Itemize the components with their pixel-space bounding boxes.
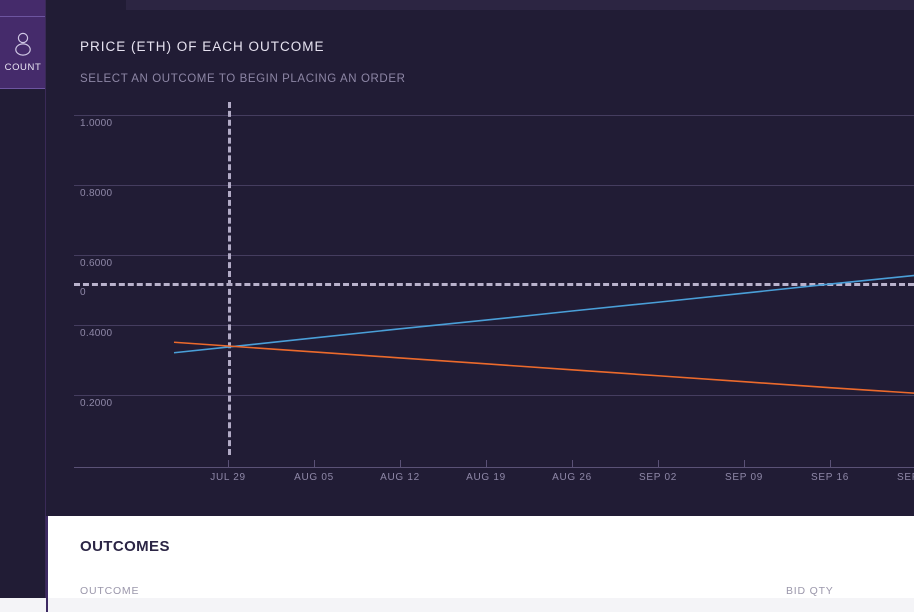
- x-axis-tick-label: SEP 23: [897, 472, 914, 483]
- top-strip: [46, 0, 914, 10]
- x-axis-tick-label: SEP 02: [639, 472, 677, 483]
- chart-series-line-lead: [174, 342, 228, 346]
- price-chart-plot-area[interactable]: 1.00000.80000.60000.40000.2000 0 JUL 29A…: [74, 102, 914, 462]
- app-root: COUNT PRICE (ETH) OF EACH OUTCOME SELECT…: [0, 0, 914, 612]
- x-axis-tick: [830, 460, 831, 467]
- x-axis-tick-label: AUG 26: [552, 472, 592, 483]
- sidebar: COUNT: [0, 0, 46, 612]
- top-strip-panel: [126, 0, 914, 10]
- x-axis-tick: [400, 460, 401, 467]
- column-header-bid-qty: BID QTY: [786, 585, 834, 597]
- x-axis-baseline: [74, 467, 914, 468]
- x-axis-tick-label: SEP 16: [811, 472, 849, 483]
- chart-subtitle: SELECT AN OUTCOME TO BEGIN PLACING AN OR…: [80, 73, 406, 85]
- x-axis-tick: [744, 460, 745, 467]
- x-axis-tick-label: SEP 09: [725, 472, 763, 483]
- x-axis-tick: [228, 460, 229, 467]
- outcomes-title: OUTCOMES: [80, 538, 170, 555]
- account-person-icon: [12, 32, 34, 56]
- chart-title: PRICE (ETH) OF EACH OUTCOME: [80, 39, 325, 54]
- chart-series-line-lead: [174, 347, 228, 353]
- x-axis-tick-label: AUG 19: [466, 472, 506, 483]
- outcomes-table-row[interactable]: [0, 598, 914, 612]
- x-axis-tick: [572, 460, 573, 467]
- sidebar-item-account-label: COUNT: [5, 62, 42, 73]
- chart-panel: PRICE (ETH) OF EACH OUTCOME SELECT AN OU…: [46, 10, 914, 515]
- column-header-outcome: OUTCOME: [80, 585, 139, 597]
- outcomes-row-left-rule: [46, 598, 48, 612]
- sidebar-bottom-divider: [0, 88, 46, 89]
- chart-series-line: [228, 275, 914, 347]
- x-axis-tick: [486, 460, 487, 467]
- x-axis-tick: [314, 460, 315, 467]
- sidebar-item-account[interactable]: COUNT: [0, 17, 46, 88]
- x-axis-tick-label: JUL 29: [210, 472, 246, 483]
- chart-series-line: [228, 346, 914, 393]
- x-axis-tick-label: AUG 12: [380, 472, 420, 483]
- x-axis-tick: [658, 460, 659, 467]
- chart-series-layer: [74, 102, 914, 462]
- x-axis-tick-label: AUG 05: [294, 472, 334, 483]
- sidebar-top-block: [0, 0, 46, 16]
